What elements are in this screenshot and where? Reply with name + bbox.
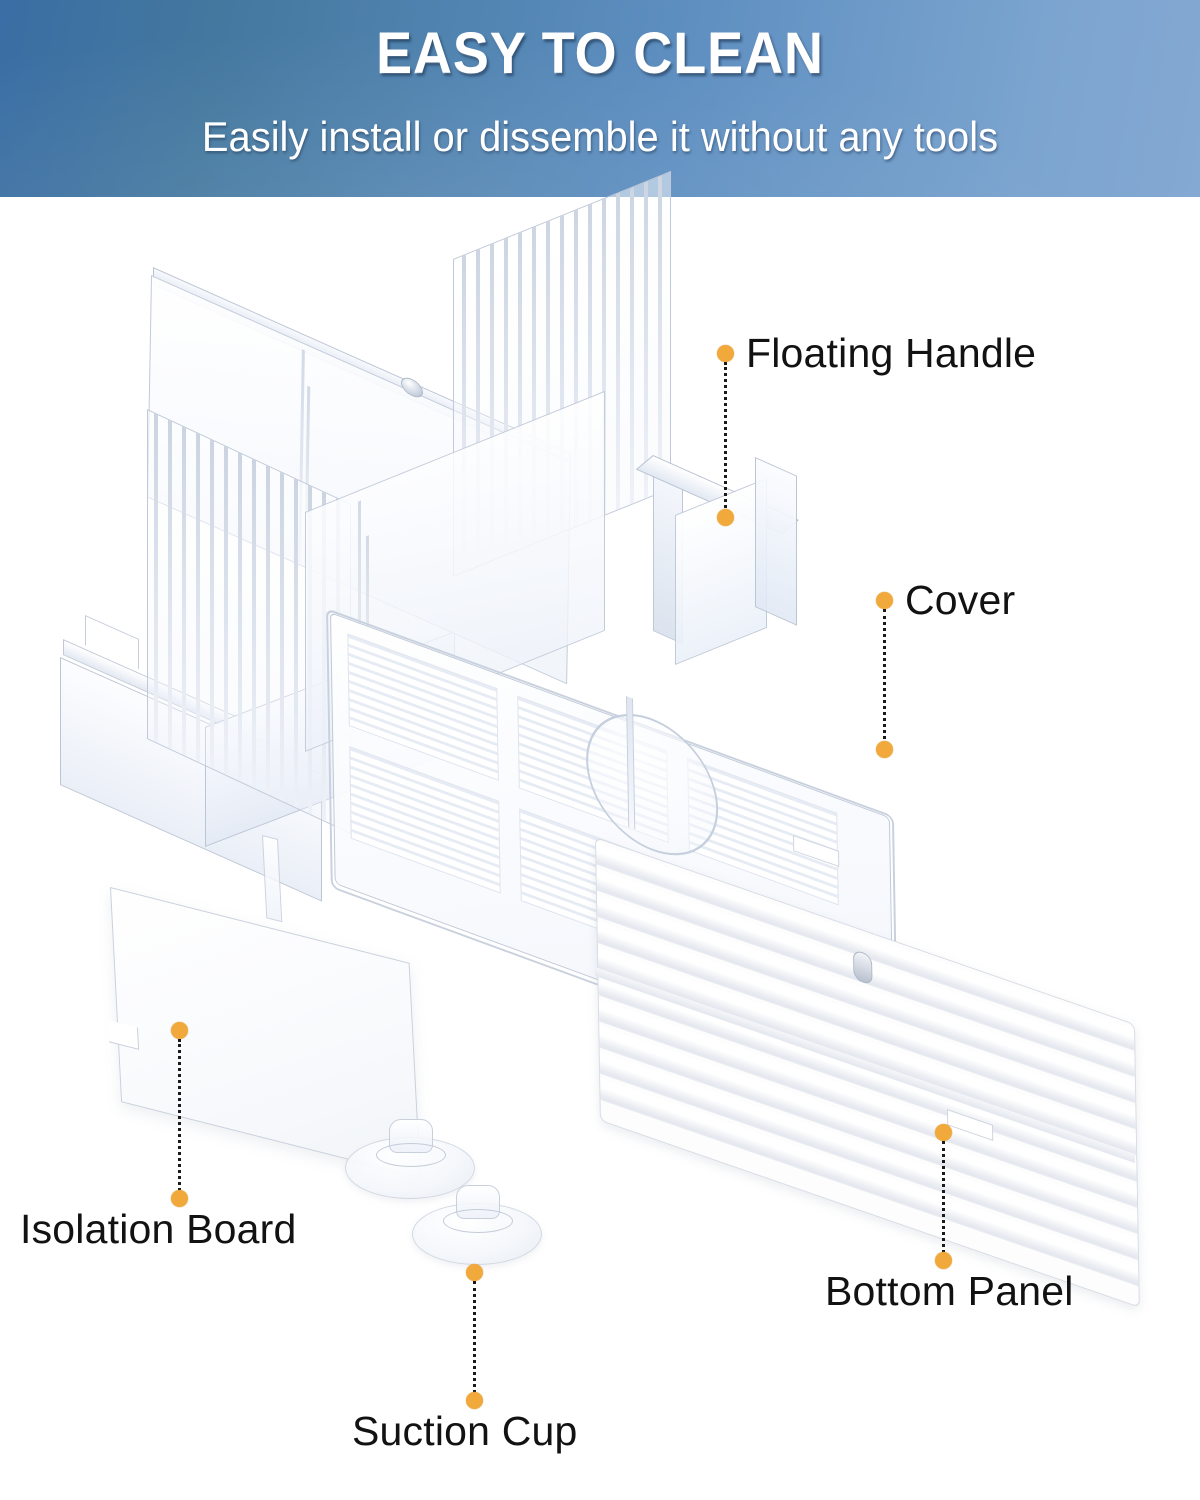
callout-label-isolation-board: Isolation Board (20, 1206, 297, 1253)
callout-label-suction-cup: Suction Cup (352, 1408, 578, 1455)
bottom-panel-part (595, 837, 1195, 1277)
header-banner: EASY TO CLEAN Easily install or dissembl… (0, 0, 1200, 197)
callout-label-floating-handle: Floating Handle (746, 330, 1036, 377)
floating-handle-anchor-dot (717, 509, 734, 526)
suction-cup-label-dot (466, 1392, 483, 1409)
cover-label-dot (876, 592, 893, 609)
isolation-board-plate (110, 887, 421, 1178)
banner-title: EASY TO CLEAN (42, 20, 1158, 87)
cover-leader-line (883, 609, 886, 745)
bottom-panel-label-dot (935, 1252, 952, 1269)
floating-handle-side-face (755, 457, 797, 626)
bottom-panel-plate (595, 837, 1140, 1308)
isolation-board-leader-line (178, 1039, 181, 1191)
bottom-panel-anchor-dot (935, 1124, 952, 1141)
callout-label-bottom-panel: Bottom Panel (825, 1268, 1074, 1315)
suction-cup-anchor-dot (466, 1264, 483, 1281)
cover-anchor-dot (876, 741, 893, 758)
bottom-panel-tab-top (793, 835, 839, 867)
banner-subtitle: Easily install or dissemble it without a… (30, 113, 1170, 161)
callout-label-cover: Cover (905, 577, 1015, 624)
floating-handle-leader-line (724, 362, 727, 514)
isolation-board-part (110, 887, 490, 1167)
bottom-panel-leader-line (942, 1141, 945, 1253)
isolation-board-label-dot (171, 1190, 188, 1207)
suction-cup-leader-line (473, 1281, 476, 1393)
floating-handle-label-dot (717, 345, 734, 362)
isolation-board-anchor-dot (171, 1022, 188, 1039)
